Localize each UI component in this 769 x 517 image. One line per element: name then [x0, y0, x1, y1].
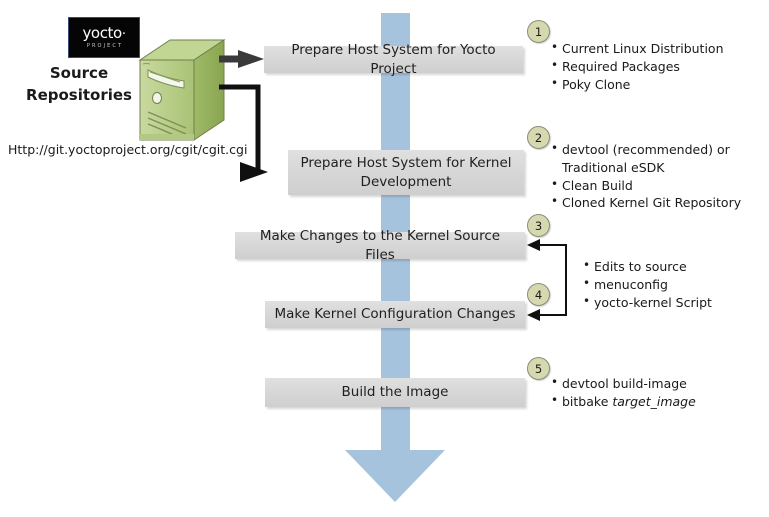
- list-item: bitbake target_image: [562, 393, 696, 411]
- step-2-box-label: Prepare Host System for Kernel Developme…: [296, 154, 516, 190]
- server-tower-icon: [136, 38, 226, 143]
- step-5-number-badge: 5: [527, 357, 550, 380]
- source-repositories-label-line2: Repositories: [14, 85, 144, 107]
- step-5-notes: devtool build-image bitbake target_image: [548, 375, 696, 411]
- list-item: Clean Build: [562, 177, 741, 195]
- step-2-notes: devtool (recommended) or Traditional eSD…: [548, 141, 741, 212]
- yocto-project-logo: yocto· PROJECT: [68, 17, 140, 58]
- step-5-box[interactable]: Build the Image: [265, 378, 525, 407]
- step-4-number: 4: [535, 288, 542, 302]
- list-item: menuconfig: [594, 276, 712, 294]
- step-1-box-label: Prepare Host System for Yocto Project: [272, 41, 515, 77]
- kernel-development-workflow-diagram: yocto· PROJECT Source Repositories Http:…: [0, 0, 769, 517]
- step-4-box[interactable]: Make Kernel Configuration Changes: [265, 301, 525, 328]
- step-5-number: 5: [535, 362, 542, 376]
- yocto-logo-word-text: yocto: [82, 24, 121, 42]
- step-3-box-label: Make Changes to the Kernel Source Files: [243, 227, 517, 263]
- list-item: Current Linux Distribution: [562, 40, 724, 58]
- step-5-box-label: Build the Image: [342, 383, 449, 401]
- source-repositories-label: Source Repositories: [14, 63, 144, 107]
- yocto-logo-subtext: PROJECT: [85, 44, 123, 49]
- step-2-note-1: Traditional eSDK: [562, 160, 665, 175]
- yocto-logo-wordmark: yocto·: [82, 26, 125, 41]
- steps-3-4-shared-notes: Edits to source menuconfig yocto-kernel …: [580, 258, 712, 311]
- step-5-note-1: bitbake: [562, 394, 612, 409]
- step-1-notes: Current Linux Distribution Required Pack…: [548, 40, 724, 93]
- shared-note-1: menuconfig: [594, 277, 668, 292]
- step-2-note-2: Clean Build: [562, 178, 633, 193]
- yocto-logo-dot: ·: [122, 27, 126, 42]
- list-item: devtool build-image: [562, 375, 696, 393]
- list-item: yocto-kernel Script: [594, 294, 712, 312]
- step-3-number: 3: [535, 219, 542, 233]
- list-item: Edits to source: [594, 258, 712, 276]
- step-2-box[interactable]: Prepare Host System for Kernel Developme…: [288, 150, 524, 195]
- step-5-note-0: devtool build-image: [562, 376, 687, 391]
- step-1-box[interactable]: Prepare Host System for Yocto Project: [264, 46, 523, 73]
- source-repositories-url: Http://git.yoctoproject.org/cgit/cgit.cg…: [8, 142, 247, 157]
- step-4-box-label: Make Kernel Configuration Changes: [274, 305, 515, 323]
- workflow-spine-arrowhead: [345, 450, 445, 502]
- list-item: devtool (recommended) or: [562, 141, 741, 159]
- shared-note-2: yocto-kernel Script: [594, 295, 712, 310]
- list-item: Poky Clone: [562, 76, 724, 94]
- source-repositories-label-line1: Source: [14, 63, 144, 85]
- step-2-number: 2: [535, 131, 542, 145]
- step-2-number-badge: 2: [527, 126, 550, 149]
- step-2-note-3: Cloned Kernel Git Repository: [562, 195, 741, 210]
- step-3-box[interactable]: Make Changes to the Kernel Source Files: [235, 232, 525, 259]
- step-1-number: 1: [535, 25, 542, 39]
- list-item: Cloned Kernel Git Repository: [562, 194, 741, 212]
- step-2-note-0: devtool (recommended) or: [562, 142, 730, 157]
- step-1-number-badge: 1: [527, 20, 550, 43]
- step-4-number-badge: 4: [527, 283, 550, 306]
- step-3-number-badge: 3: [527, 214, 550, 237]
- step-1-note-1: Required Packages: [562, 59, 680, 74]
- list-item: Required Packages: [562, 58, 724, 76]
- list-item: Traditional eSDK: [562, 159, 741, 177]
- shared-note-0: Edits to source: [594, 259, 687, 274]
- step-1-note-0: Current Linux Distribution: [562, 41, 724, 56]
- step-1-note-2: Poky Clone: [562, 77, 630, 92]
- step-5-note-1-target: target_image: [612, 394, 695, 409]
